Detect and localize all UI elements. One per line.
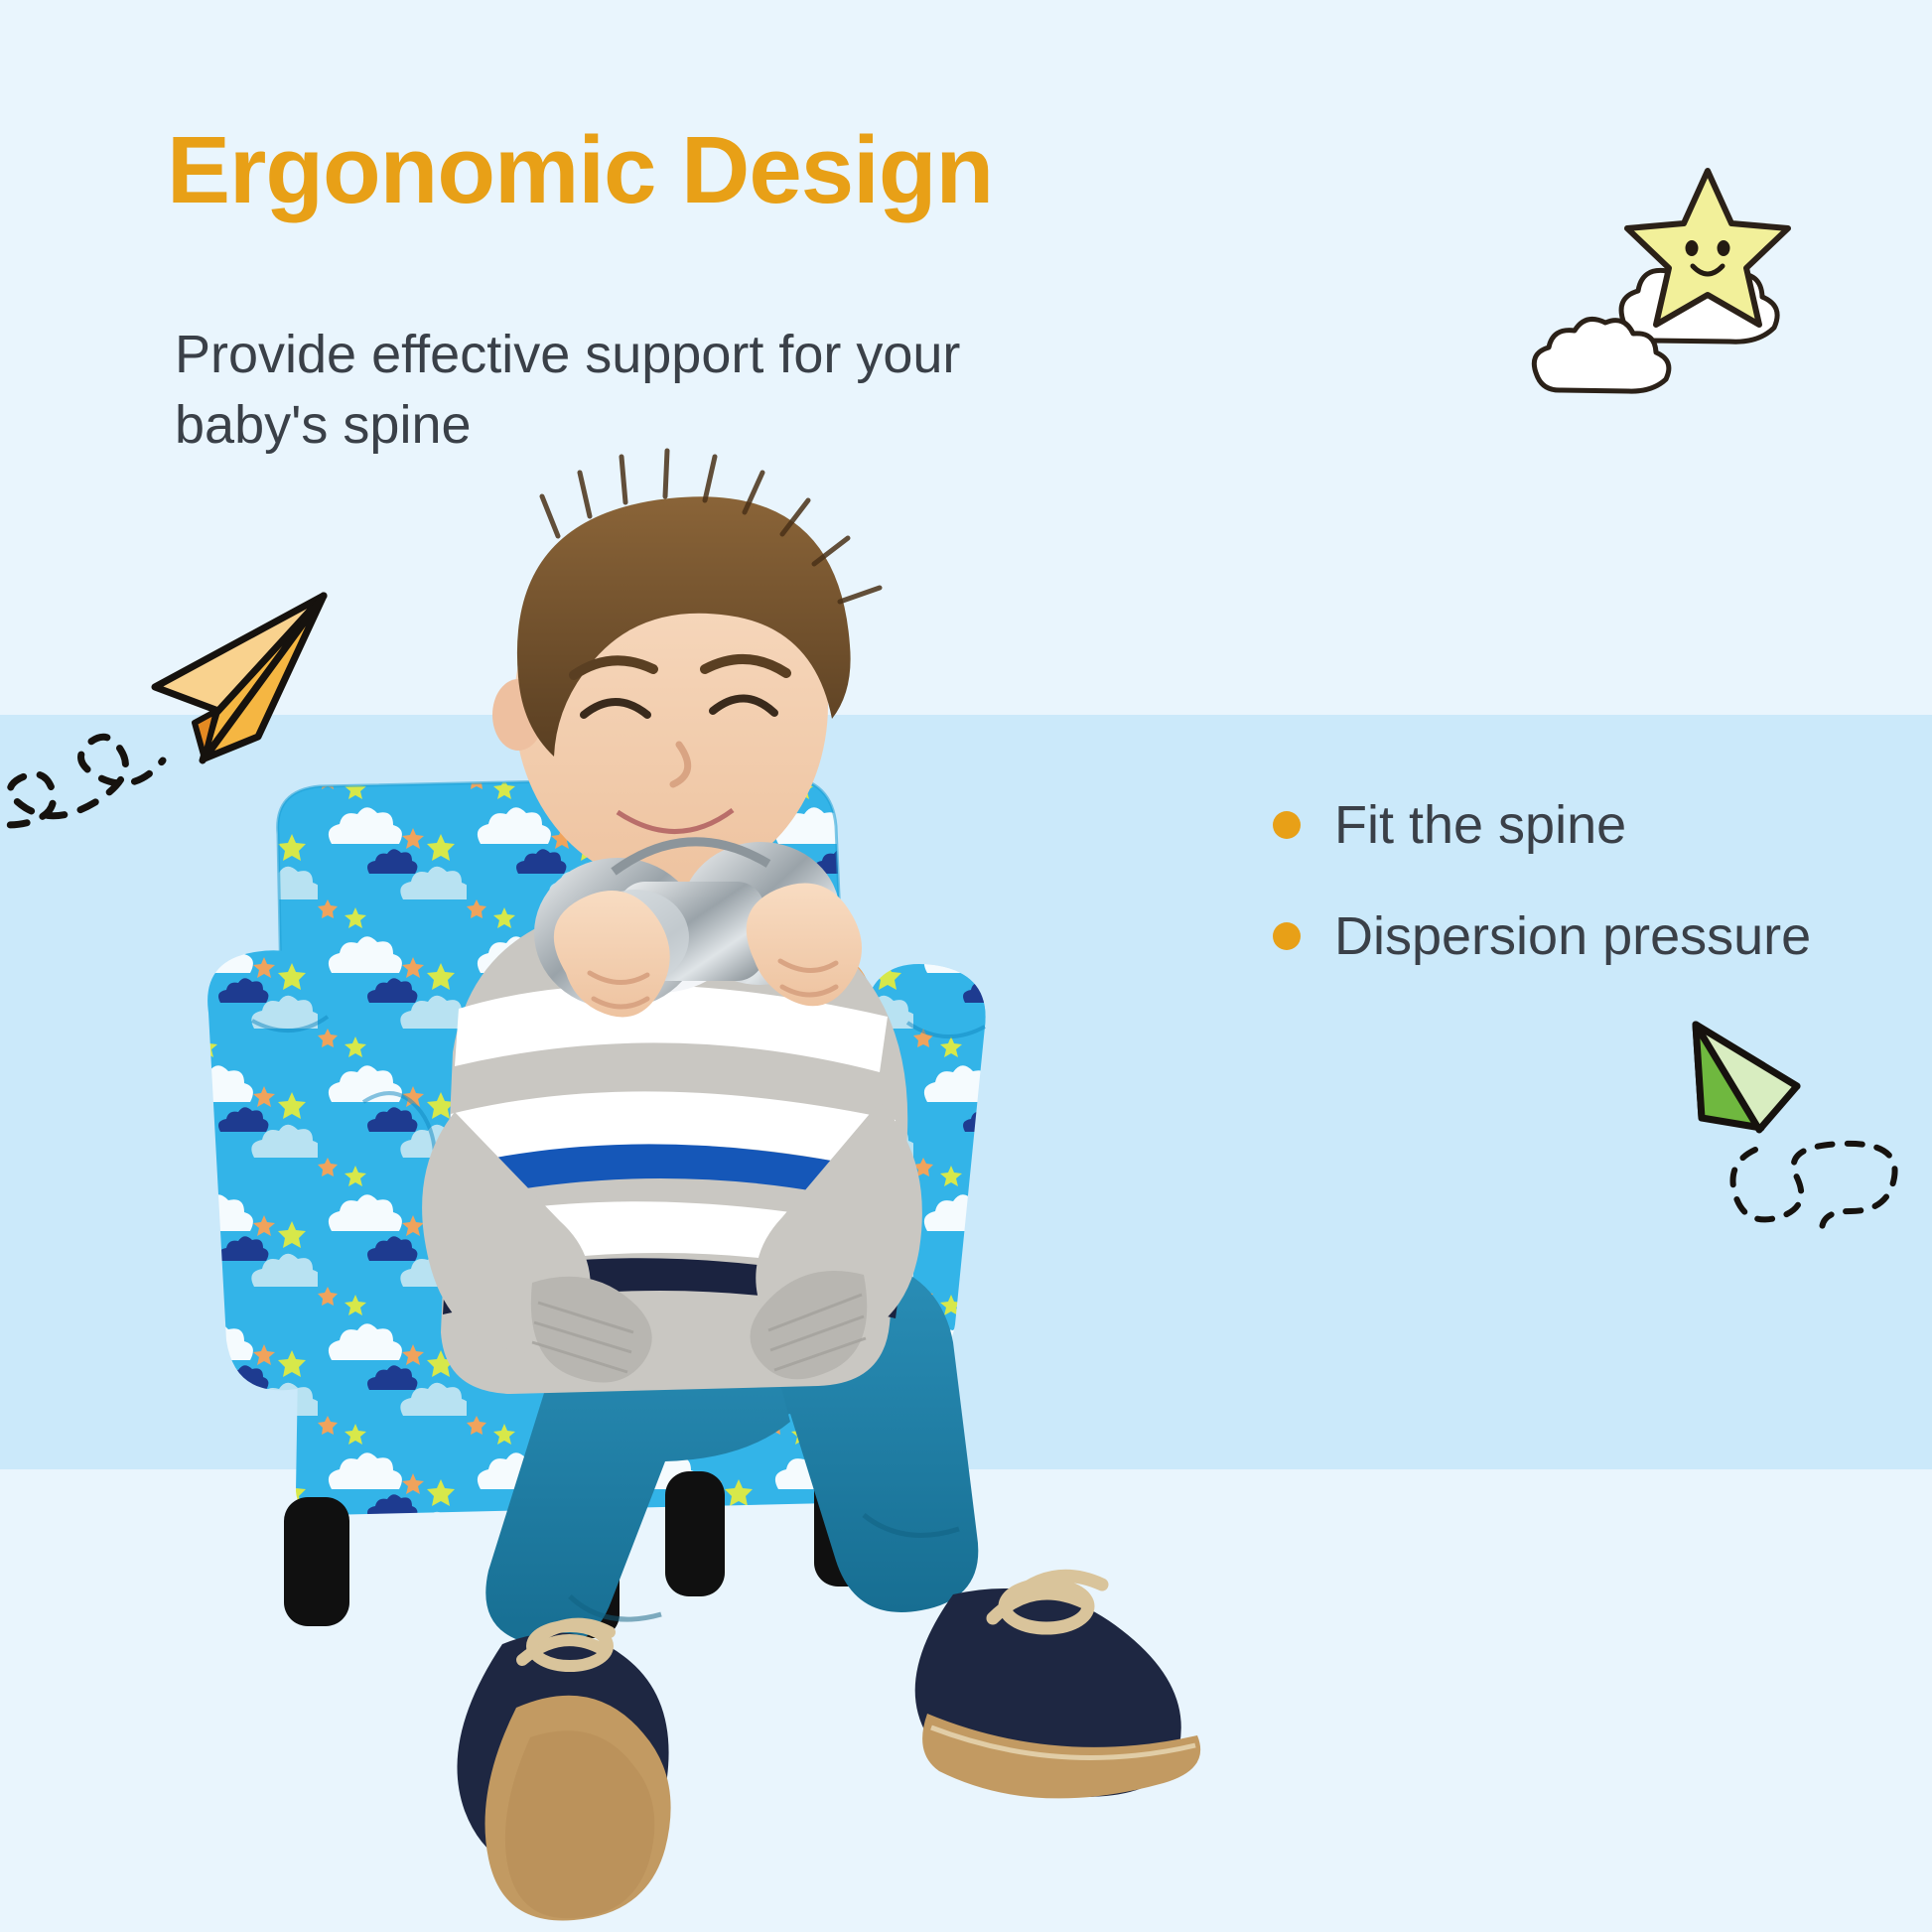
page-title: Ergonomic Design	[167, 121, 993, 221]
child-left-shoe	[457, 1624, 670, 1921]
star-cloud-icon	[1509, 129, 1896, 407]
product-feature-banner: Ergonomic Design Provide effective suppo…	[0, 0, 1932, 1932]
list-item: Dispersion pressure	[1273, 905, 1908, 967]
list-item: Fit the spine	[1273, 794, 1908, 856]
child-right-shoe	[915, 1576, 1200, 1798]
feature-list: Fit the spine Dispersion pressure	[1273, 794, 1908, 1017]
feature-label: Fit the spine	[1334, 794, 1626, 856]
paper-plane-green-icon	[1638, 993, 1932, 1261]
feature-label: Dispersion pressure	[1334, 905, 1811, 967]
product-photo	[169, 417, 1281, 1932]
